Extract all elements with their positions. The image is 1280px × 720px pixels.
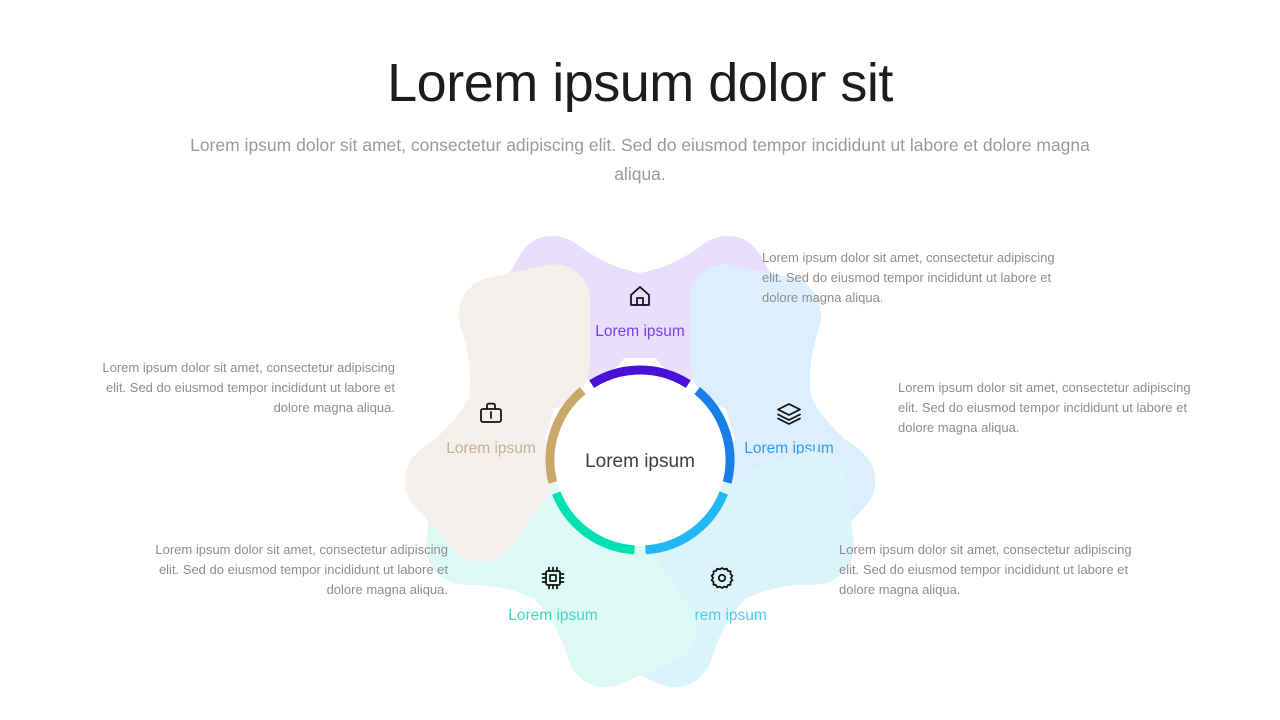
description-bottom-right: Lorem ipsum dolor sit amet, consectetur …	[839, 540, 1149, 599]
page-subtitle: Lorem ipsum dolor sit amet, consectetur …	[190, 131, 1090, 189]
petal-left-label: Lorem ipsum	[446, 440, 536, 457]
petal-bottom-left-label: Lorem ipsum	[508, 607, 598, 624]
description-bottom-left: Lorem ipsum dolor sit amet, consectetur …	[138, 540, 448, 599]
description-left: Lorem ipsum dolor sit amet, consectetur …	[85, 358, 395, 417]
page-title: Lorem ipsum dolor sit	[0, 52, 1280, 116]
center-label: Lorem ipsum	[585, 451, 695, 472]
description-top-right: Lorem ipsum dolor sit amet, consectetur …	[762, 248, 1072, 307]
description-right: Lorem ipsum dolor sit amet, consectetur …	[898, 378, 1210, 437]
petal-top-label: Lorem ipsum	[595, 323, 685, 340]
